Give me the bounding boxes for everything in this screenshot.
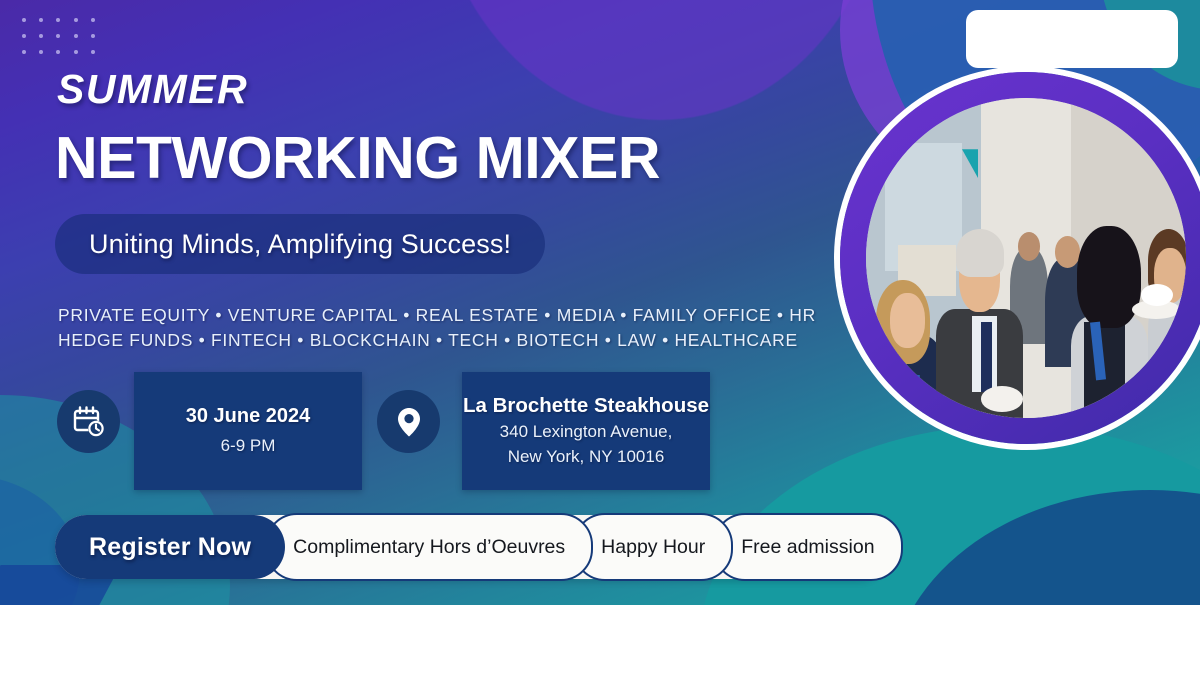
venue-name: La Brochette Steakhouse [463,394,709,418]
event-date: 30 June 2024 [186,405,311,428]
calendar-clock-icon [57,390,120,453]
cta-strip: Register Now Complimentary Hors d’Oeuvre… [55,515,890,579]
decorative-blob-navy-bottom [890,490,1200,605]
perk-badge-free-admission: Free admission [713,513,902,581]
venue-city: New York, NY 10016 [508,445,665,468]
photo-cup [1141,284,1173,306]
perk-badge-hors-doeuvres: Complimentary Hors d’Oeuvres [265,513,593,581]
photo-center-man-tie [981,322,992,392]
event-banner: SUMMER NETWORKING MIXER Uniting Minds, A… [0,0,1200,605]
photo-left-woman-face [890,293,925,347]
photo-bg-person-2-head [1055,236,1081,268]
industry-line-2: HEDGE FUNDS • FINTECH • BLOCKCHAIN • TEC… [58,328,748,353]
photo-ring [840,72,1200,444]
perk-badge-happy-hour: Happy Hour [573,513,733,581]
venue-card: La Brochette Steakhouse 340 Lexington Av… [462,372,710,490]
photo-right-woman-hair [1077,226,1141,328]
tagline-text: Uniting Minds, Amplifying Success! [89,229,511,260]
photo-center-man-plate [981,386,1023,412]
photo-scene [866,98,1186,418]
venue-street: 340 Lexington Avenue, [500,420,673,443]
photo-center-man-hair [956,229,1004,277]
date-card: 30 June 2024 6-9 PM [134,372,362,490]
tagline-pill: Uniting Minds, Amplifying Success! [55,214,545,274]
eyebrow-text: SUMMER [57,66,248,113]
register-now-button[interactable]: Register Now [55,515,285,579]
event-time: 6-9 PM [221,434,276,457]
page-title: NETWORKING MIXER [55,124,660,192]
location-pin-icon [377,390,440,453]
industry-line-1: PRIVATE EQUITY • VENTURE CAPITAL • REAL … [58,303,748,328]
industry-list: PRIVATE EQUITY • VENTURE CAPITAL • REAL … [58,303,748,353]
networking-event-photo [866,98,1186,418]
logo-placeholder [966,10,1178,68]
